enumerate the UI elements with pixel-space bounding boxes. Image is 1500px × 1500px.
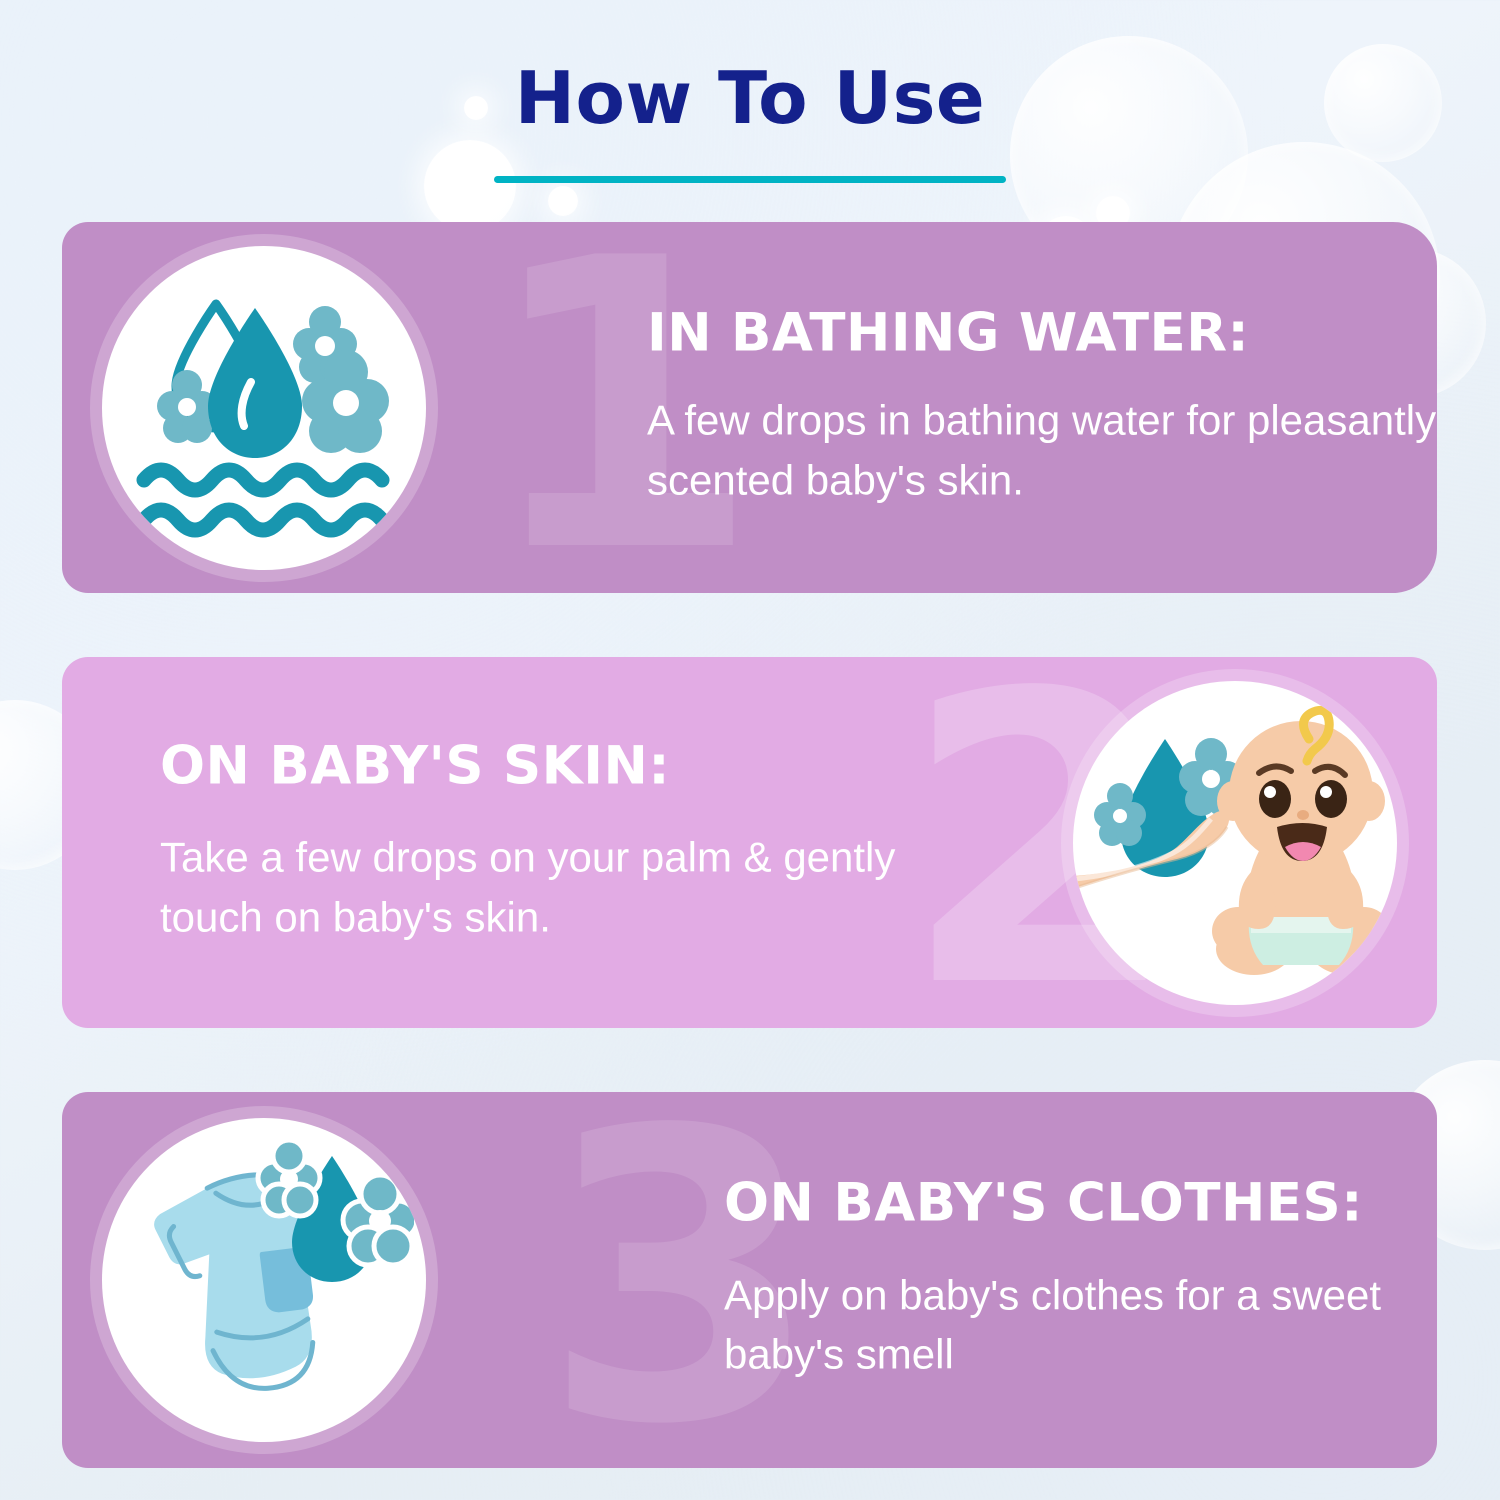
step-card-3[interactable]: 3 xyxy=(62,1092,1437,1468)
wave-line-bottom xyxy=(144,510,382,530)
step-2-body: Take a few drops on your palm & gently t… xyxy=(160,828,960,947)
icon-disc xyxy=(102,1118,426,1442)
title-underline xyxy=(494,176,1006,183)
flower-right-of-drop xyxy=(343,1175,414,1265)
step-3-title: ON BABY'S CLOTHES: xyxy=(724,1176,1437,1232)
step-2-text: ON BABY'S SKIN: Take a few drops on your… xyxy=(160,738,960,947)
step-2-icon-container xyxy=(1061,669,1409,1017)
hand-drop-baby-icon xyxy=(1073,681,1397,1005)
icon-disc xyxy=(1073,681,1397,1005)
icon-disc xyxy=(102,246,426,570)
flower-left-of-drop xyxy=(258,1140,320,1216)
icon-ring xyxy=(90,234,438,582)
header: How To Use xyxy=(0,62,1500,183)
flower-small-left xyxy=(157,370,217,443)
bubble-decoration xyxy=(548,186,578,216)
step-3-text: ON BABY'S CLOTHES: Apply on baby's cloth… xyxy=(724,1176,1437,1385)
baby-figure xyxy=(1212,710,1390,975)
step-3-body: Apply on baby's clothes for a sweet baby… xyxy=(724,1265,1437,1384)
step-1-body: A few drops in bathing water for pleasan… xyxy=(647,391,1437,510)
step-1-title: IN BATHING WATER: xyxy=(647,305,1437,361)
step-1-text: IN BATHING WATER: A few drops in bathing… xyxy=(647,305,1437,510)
page-title: How To Use xyxy=(0,62,1500,134)
water-drop-waves-icon xyxy=(124,268,404,548)
icon-ring xyxy=(1061,669,1409,1017)
wave-line-top xyxy=(144,470,382,490)
step-3-icon-container xyxy=(90,1106,438,1454)
step-card-1[interactable]: 1 xyxy=(62,222,1437,593)
icon-ring xyxy=(90,1106,438,1454)
water-drop xyxy=(208,308,302,458)
step-card-2[interactable]: 2 ON BABY'S SKIN: Take a few drops on yo… xyxy=(62,657,1437,1028)
step-2-title: ON BABY'S SKIN: xyxy=(160,738,960,794)
onesie-drop-icon xyxy=(114,1130,414,1430)
step-1-icon-container xyxy=(90,234,438,582)
